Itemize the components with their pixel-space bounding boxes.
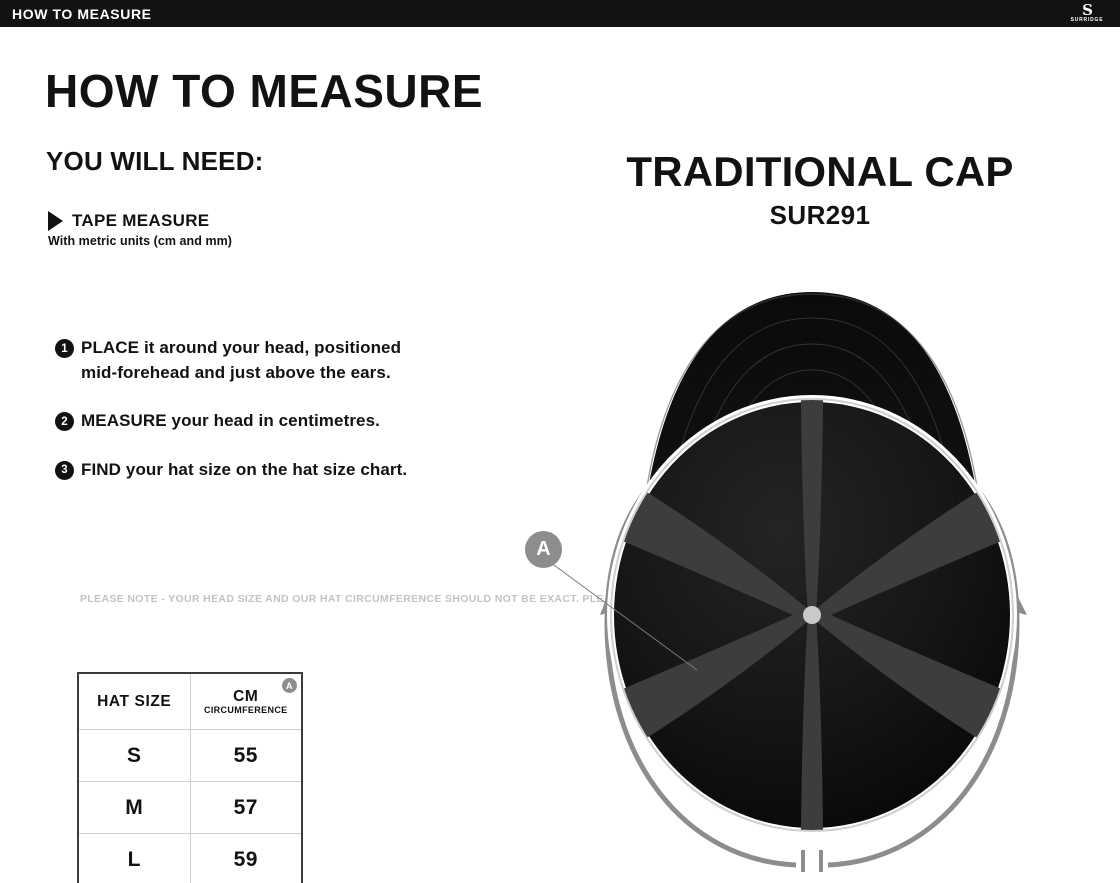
cap-diagram-svg	[505, 270, 1065, 883]
column-header-cm-circumference: A CM CIRCUMFERENCE	[190, 674, 302, 730]
step-text: FIND your hat size on the hat size chart…	[81, 458, 407, 483]
tool-block: TAPE MEASURE With metric units (cm and m…	[48, 210, 468, 248]
cell-cm: 59	[190, 834, 302, 883]
cell-hat-size: S	[79, 730, 191, 782]
step-text: PLACE it around your head, positioned mi…	[81, 336, 425, 385]
callout-a-badge: A	[525, 531, 562, 568]
top-bar: HOW TO MEASURE S SURRIDGE	[0, 0, 1120, 27]
column-header-hat-size: HAT SIZE	[79, 674, 191, 730]
brand-s-mark-icon: S	[1082, 4, 1092, 17]
how-to-measure-page: HOW TO MEASURE S SURRIDGE HOW TO MEASURE…	[0, 0, 1120, 883]
product-title: TRADITIONAL CAP	[540, 148, 1100, 196]
crown-button-icon	[803, 606, 821, 624]
cell-cm: 55	[190, 730, 302, 782]
list-item: 1 PLACE it around your head, positioned …	[55, 336, 425, 385]
play-triangle-icon	[48, 211, 63, 231]
brand-wordmark: SURRIDGE	[1071, 17, 1104, 24]
cell-cm: 57	[190, 782, 302, 834]
cell-hat-size: M	[79, 782, 191, 834]
a-reference-badge: A	[282, 678, 297, 693]
step-text: MEASURE your head in centimetres.	[81, 409, 380, 434]
hat-size-table: HAT SIZE A CM CIRCUMFERENCE S 55 M 57 L …	[78, 673, 302, 883]
table-row: M 57	[79, 782, 302, 834]
page-title: HOW TO MEASURE	[45, 64, 483, 118]
table-row: L 59	[79, 834, 302, 883]
surridge-logo: S SURRIDGE	[1064, 2, 1110, 26]
steps-list: 1 PLACE it around your head, positioned …	[55, 336, 425, 506]
you-will-need-heading: YOU WILL NEED:	[46, 146, 264, 177]
product-code: SUR291	[540, 200, 1100, 231]
list-item: 3 FIND your hat size on the hat size cha…	[55, 458, 425, 483]
list-item: 2 MEASURE your head in centimetres.	[55, 409, 425, 434]
step-number-badge: 1	[55, 339, 74, 358]
tool-subtitle: With metric units (cm and mm)	[48, 234, 468, 248]
step-number-badge: 3	[55, 461, 74, 480]
cap-illustration	[505, 270, 1065, 883]
top-bar-title: HOW TO MEASURE	[12, 6, 152, 22]
step-number-badge: 2	[55, 412, 74, 431]
tool-name: TAPE MEASURE	[72, 211, 209, 231]
table-row: S 55	[79, 730, 302, 782]
column-header-cm-sublabel: CIRCUMFERENCE	[192, 705, 301, 716]
cell-hat-size: L	[79, 834, 191, 883]
table-header-row: HAT SIZE A CM CIRCUMFERENCE	[79, 674, 302, 730]
